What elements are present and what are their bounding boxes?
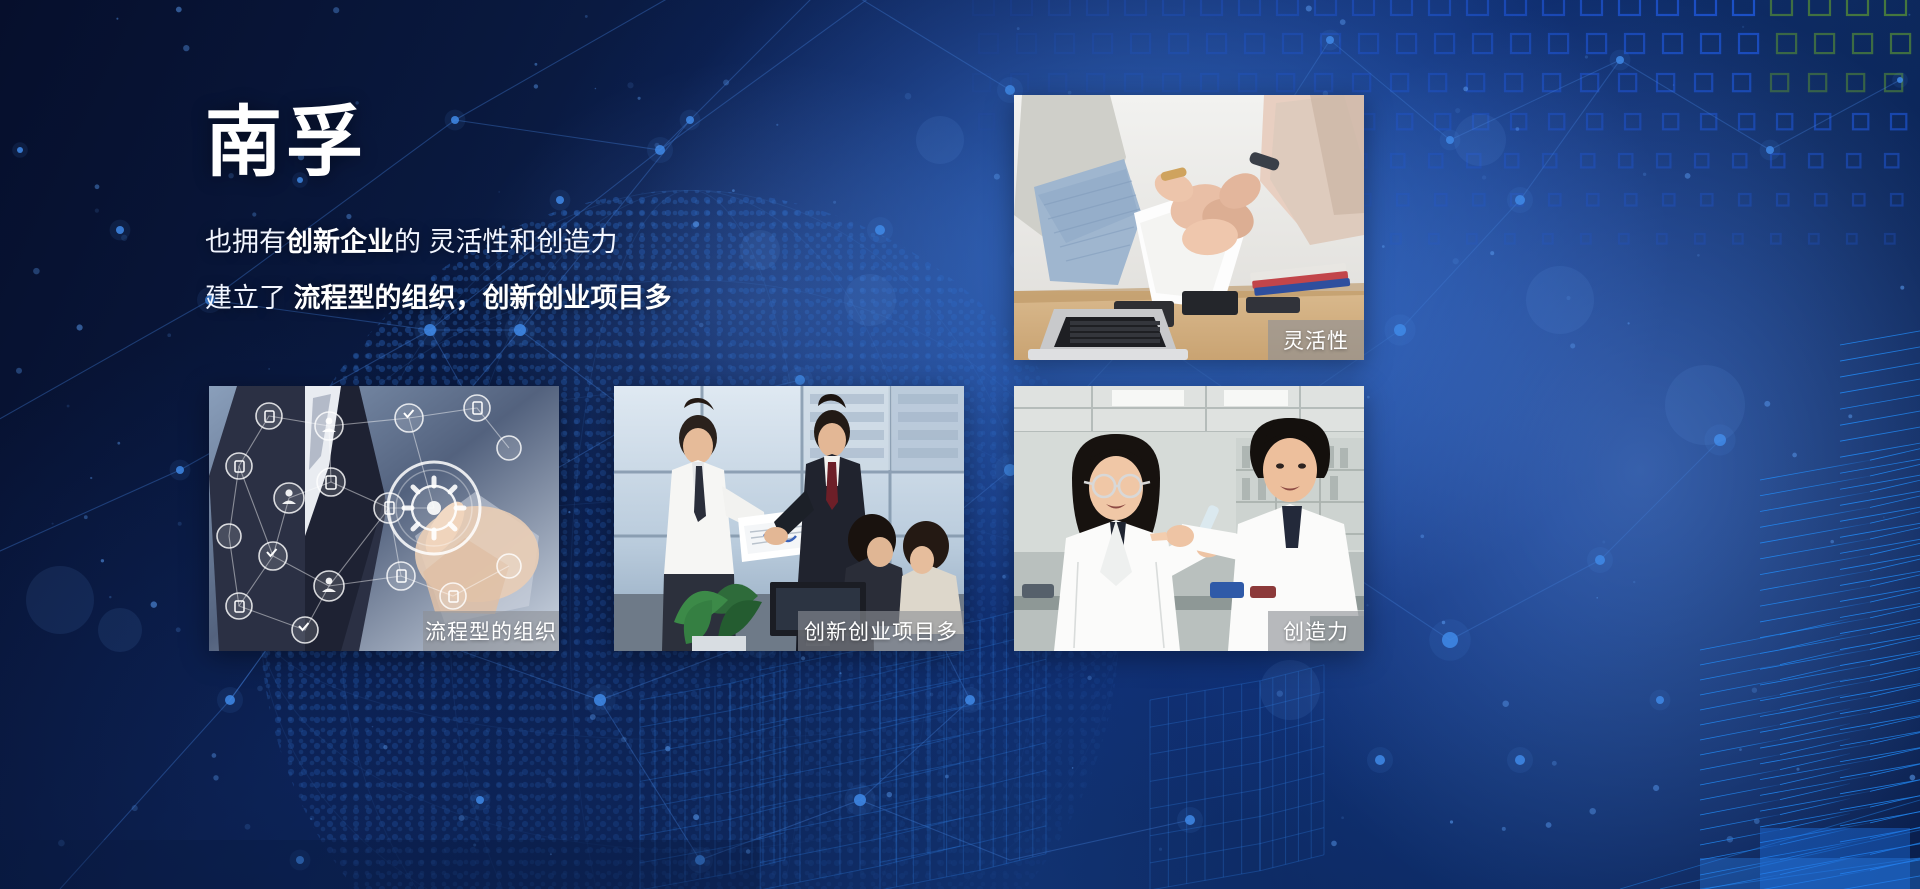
tagline-1-seg-3: 的 bbox=[394, 227, 421, 257]
photo-card-creativity[interactable]: 创造力 bbox=[1014, 386, 1364, 651]
tagline-1-seg-2: 创新企业 bbox=[286, 227, 394, 257]
headline-block: 南孚 也拥有创新企业的 灵活性和创造力 建立了 流程型的组织，创新创业项目多 bbox=[205, 105, 672, 320]
tagline-1-seg-1: 也拥有 bbox=[205, 227, 286, 257]
brand-title: 南孚 bbox=[205, 105, 672, 182]
photo-card-projects[interactable]: 创新创业项目多 bbox=[614, 386, 964, 651]
tagline-1-seg-4: 灵活性和创造力 bbox=[421, 227, 618, 257]
photo-caption-projects: 创新创业项目多 bbox=[798, 611, 964, 651]
photo-card-flexibility[interactable]: 灵活性 bbox=[1014, 95, 1364, 360]
tagline-line-1: 也拥有创新企业的 灵活性和创造力 bbox=[205, 220, 672, 264]
tagline-2-seg-2: 流程型的组织，创新创业项目多 bbox=[286, 283, 672, 313]
tagline-2-seg-1: 建立了 bbox=[205, 283, 286, 313]
banner-background: 南孚 也拥有创新企业的 灵活性和创造力 建立了 流程型的组织，创新创业项目多 bbox=[0, 0, 1920, 889]
photo-card-process[interactable]: 流程型的组织 bbox=[209, 386, 559, 651]
tagline-line-2: 建立了 流程型的组织，创新创业项目多 bbox=[205, 276, 672, 320]
photo-caption-process: 流程型的组织 bbox=[423, 611, 559, 651]
photo-caption-creativity: 创造力 bbox=[1268, 611, 1364, 651]
photo-caption-flexibility: 灵活性 bbox=[1268, 320, 1364, 360]
tagline-group: 也拥有创新企业的 灵活性和创造力 建立了 流程型的组织，创新创业项目多 bbox=[205, 220, 672, 320]
